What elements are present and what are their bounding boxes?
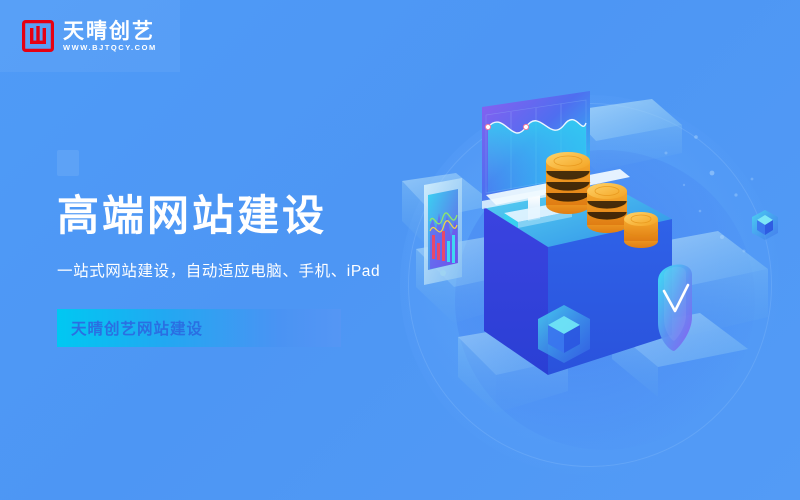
cta-button[interactable]: 天晴创艺网站建设 (57, 309, 341, 347)
decorative-accent-block (57, 150, 79, 176)
page-subtitle: 一站式网站建设，自动适应电脑、手机、iPad (57, 261, 477, 283)
tqcy-square-monogram-icon (22, 20, 54, 52)
hero-banner: 天晴创艺 WWW.BJTQCY.COM 高端网站建设 一站式网站建设，自动适应电… (0, 0, 800, 500)
page-title: 高端网站建设 (57, 192, 477, 239)
brand-website-url: WWW.BJTQCY.COM (63, 44, 157, 52)
brand-name: 天晴创艺 (63, 21, 157, 42)
cta-button-label: 天晴创艺网站建设 (71, 317, 203, 339)
hero-copy: 高端网站建设 一站式网站建设，自动适应电脑、手机、iPad 天晴创艺网站建设 (57, 150, 477, 347)
site-logo[interactable]: 天晴创艺 WWW.BJTQCY.COM (0, 0, 180, 72)
cube-icon (752, 210, 778, 240)
